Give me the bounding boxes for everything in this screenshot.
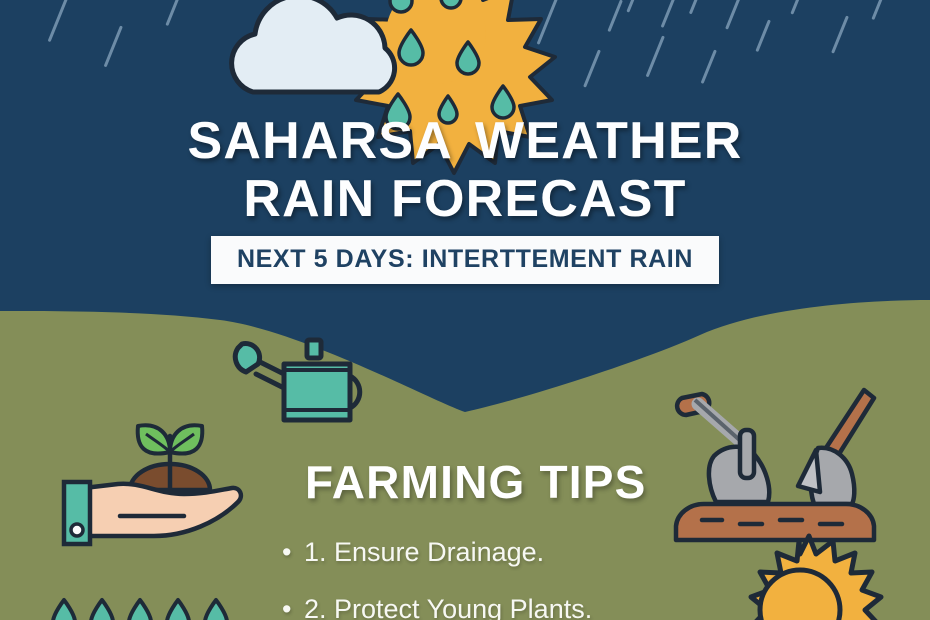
hand-holding-seedling-icon [58,412,248,562]
farming-tips-heading: FARMING TIPS [305,455,647,509]
bullet-icon: • [282,581,304,620]
subtitle-text: NEXT 5 DAYS: INTERTTEMENT RAIN [237,245,693,273]
sun-icon [724,552,876,620]
list-item-text: 1. Ensure Drainage. [304,537,544,567]
title-line-1: SAHARSAWEATHER [0,112,930,170]
cloud-shape [232,0,395,92]
farming-tips-list: •1. Ensure Drainage. •2. Protect Young P… [282,524,595,620]
bullet-icon: • [282,524,304,581]
list-item-text: 2. Protect Young Plants. [304,594,592,620]
headline-block: SAHARSAWEATHER RAIN FORECAST [0,112,930,228]
title-weather: WEATHER [475,112,742,170]
raindrops-icon [46,596,246,620]
title-city: SAHARSA [188,112,454,170]
watering-can-icon [232,336,372,432]
subtitle-banner: NEXT 5 DAYS: INTERTTEMENT RAIN [211,236,719,284]
title-line-2: RAIN FORECAST [0,170,930,228]
weather-forecast-infographic: SAHARSAWEATHER RAIN FORECAST NEXT 5 DAYS… [0,0,930,620]
list-item: •1. Ensure Drainage. [282,524,595,581]
garden-trowel-spade-icon [668,382,884,552]
list-item: •2. Protect Young Plants. [282,581,595,620]
